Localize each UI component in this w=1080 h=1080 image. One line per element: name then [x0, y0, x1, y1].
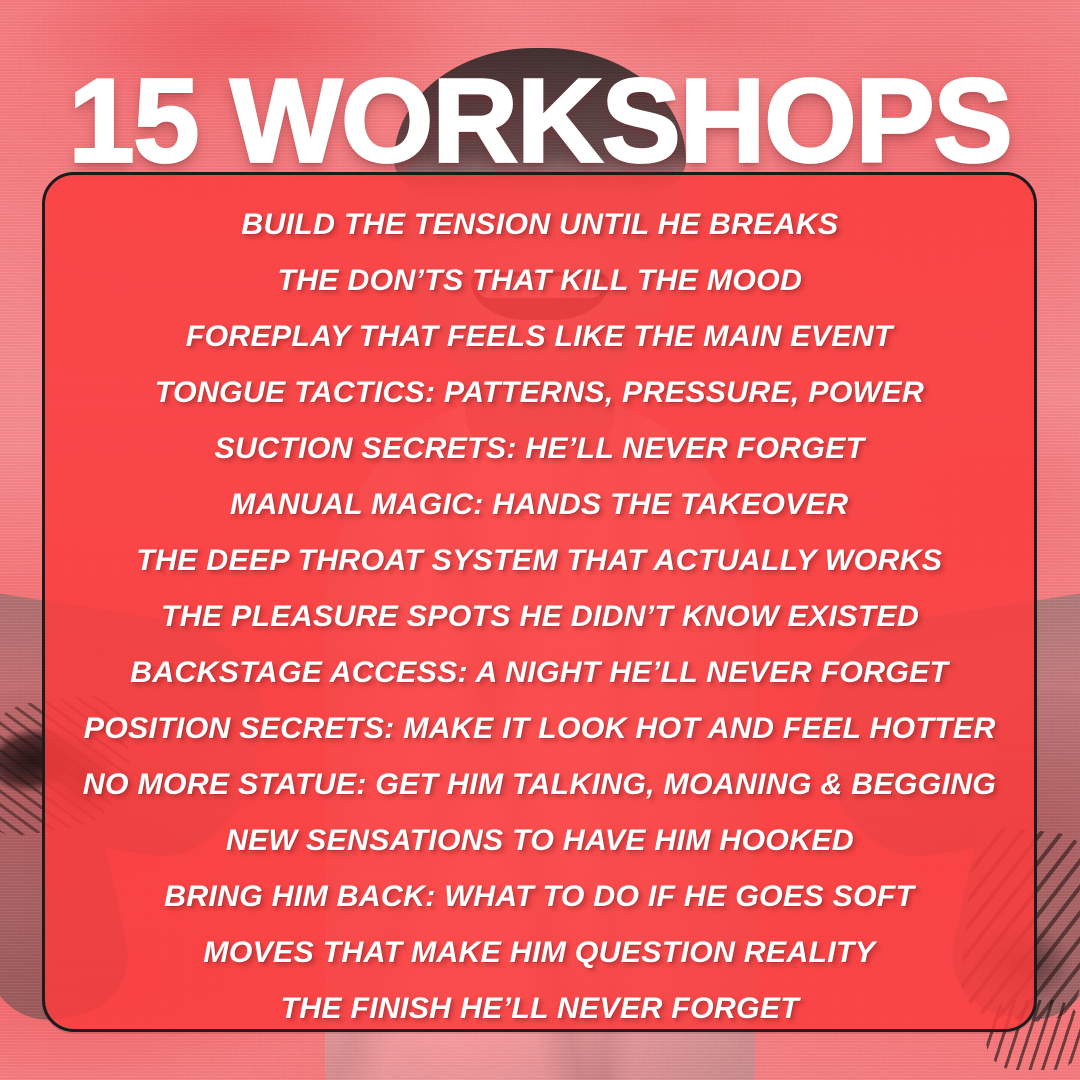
list-item: THE PLEASURE SPOTS HE DIDN’T KNOW EXISTE…	[160, 589, 918, 645]
list-item: MOVES THAT MAKE HIM QUESTION REALITY	[204, 925, 876, 981]
list-item: BACKSTAGE ACCESS: A NIGHT HE’LL NEVER FO…	[130, 645, 948, 701]
page-title: 15 WORKSHOPS	[0, 62, 1080, 181]
workshops-list: BUILD THE TENSION UNTIL HE BREAKS THE DO…	[45, 175, 1034, 1029]
list-item: TONGUE TACTICS: PATTERNS, PRESSURE, POWE…	[155, 365, 924, 421]
poster-canvas: 15 WORKSHOPS BUILD THE TENSION UNTIL HE …	[0, 0, 1080, 1080]
list-item: SUCTION SECRETS: HE’LL NEVER FORGET	[215, 421, 865, 477]
list-item: NO MORE STATUE: GET HIM TALKING, MOANING…	[83, 757, 996, 813]
list-item: MANUAL MAGIC: HANDS THE TAKEOVER	[230, 477, 848, 533]
list-item: THE FINISH HE’LL NEVER FORGET	[280, 981, 799, 1032]
list-item: THE DON’TS THAT KILL THE MOOD	[277, 253, 802, 309]
list-item: THE DEEP THROAT SYSTEM THAT ACTUALLY WOR…	[137, 533, 943, 589]
list-item: BRING HIM BACK: WHAT TO DO IF HE GOES SO…	[164, 869, 914, 925]
list-item: POSITION SECRETS: MAKE IT LOOK HOT AND F…	[84, 701, 996, 757]
list-item: NEW SENSATIONS TO HAVE HIM HOOKED	[225, 813, 853, 869]
workshops-card: BUILD THE TENSION UNTIL HE BREAKS THE DO…	[42, 172, 1037, 1032]
list-item: BUILD THE TENSION UNTIL HE BREAKS	[241, 197, 838, 253]
list-item: FOREPLAY THAT FEELS LIKE THE MAIN EVENT	[186, 309, 893, 365]
